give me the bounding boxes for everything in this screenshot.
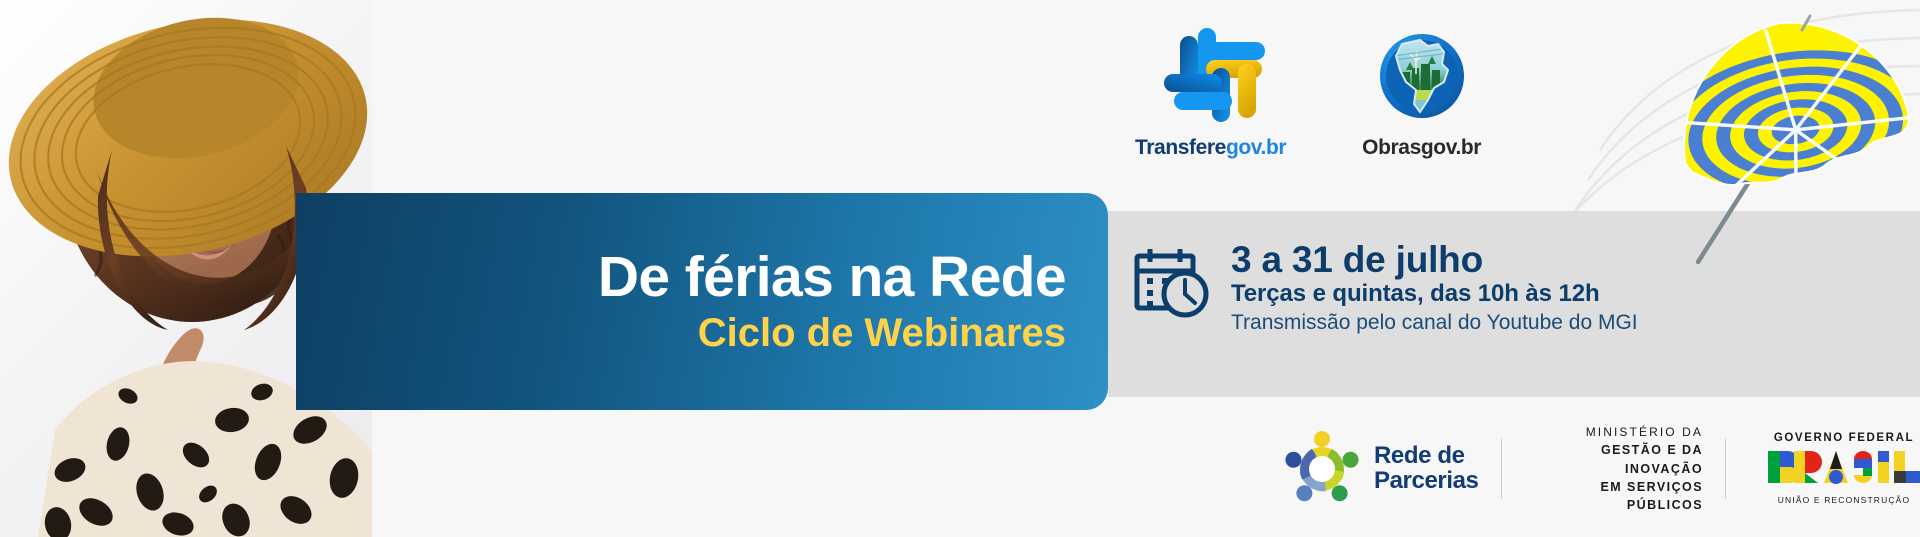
rede-line-1: Rede de [1374,444,1479,468]
ministry-line-3: EM SERVIÇOS PÚBLICOS [1523,478,1703,514]
transferegov-caption-primary: Transfere [1135,136,1226,159]
governo-federal-label: GOVERNO FEDERAL [1768,432,1920,444]
transferegov-pinwheel-icon [1152,22,1270,130]
transferegov-caption-secondary: gov.br [1226,136,1286,159]
page-title: De férias na Rede [598,249,1066,306]
logo-divider-2 [1725,439,1726,499]
top-logo-row: Transferegov.br [1135,22,1481,160]
headline-panel: De férias na Rede Ciclo de Webinares [296,193,1108,410]
event-date: 3 a 31 de julho [1231,240,1638,279]
logo-divider [1501,439,1502,499]
governo-federal-logo: GOVERNO FEDERAL [1768,432,1920,505]
calendar-clock-icon [1133,246,1211,320]
ministry-line-2: GESTÃO E DA INOVAÇÃO [1523,441,1703,477]
beach-umbrella-icon [1660,8,1920,270]
event-time: Terças e quintas, das 10h às 12h [1231,279,1638,308]
bottom-logo-row: Rede de Parcerias MINISTÉRIO DA GESTÃO E… [1280,424,1920,514]
rede-de-parcerias-logo[interactable]: Rede de Parcerias [1280,427,1479,511]
headline-text-group: De férias na Rede Ciclo de Webinares [598,193,1066,410]
ministry-wordmark: MINISTÉRIO DA GESTÃO E DA INOVAÇÃO EM SE… [1523,424,1703,514]
webinar-banner: De férias na Rede Ciclo de Webinares [0,0,1920,537]
event-note: Transmissão pelo canal do Youtube do MGI [1231,310,1638,337]
rede-de-parcerias-people-circle-icon [1280,427,1364,511]
event-info-group: 3 a 31 de julho Terças e quintas, das 10… [1133,240,1638,337]
transferegov-logo[interactable]: Transferegov.br [1135,22,1286,160]
event-info-text: 3 a 31 de julho Terças e quintas, das 10… [1231,240,1638,337]
transferegov-caption: Transferegov.br [1135,136,1286,160]
obrasgov-brazil-globe-icon [1372,26,1472,130]
obrasgov-caption: Obrasgov.br [1362,136,1481,160]
governo-federal-tagline: UNIÃO E RECONSTRUÇÃO [1768,495,1920,505]
page-subtitle: Ciclo de Webinares [698,312,1066,354]
rede-line-2: Parcerias [1374,469,1479,493]
brasil-wordmark-icon [1768,447,1920,487]
ministry-line-1: MINISTÉRIO DA [1523,424,1703,441]
obrasgov-logo[interactable]: Obrasgov.br [1362,26,1481,160]
rede-de-parcerias-wordmark: Rede de Parcerias [1374,444,1479,493]
